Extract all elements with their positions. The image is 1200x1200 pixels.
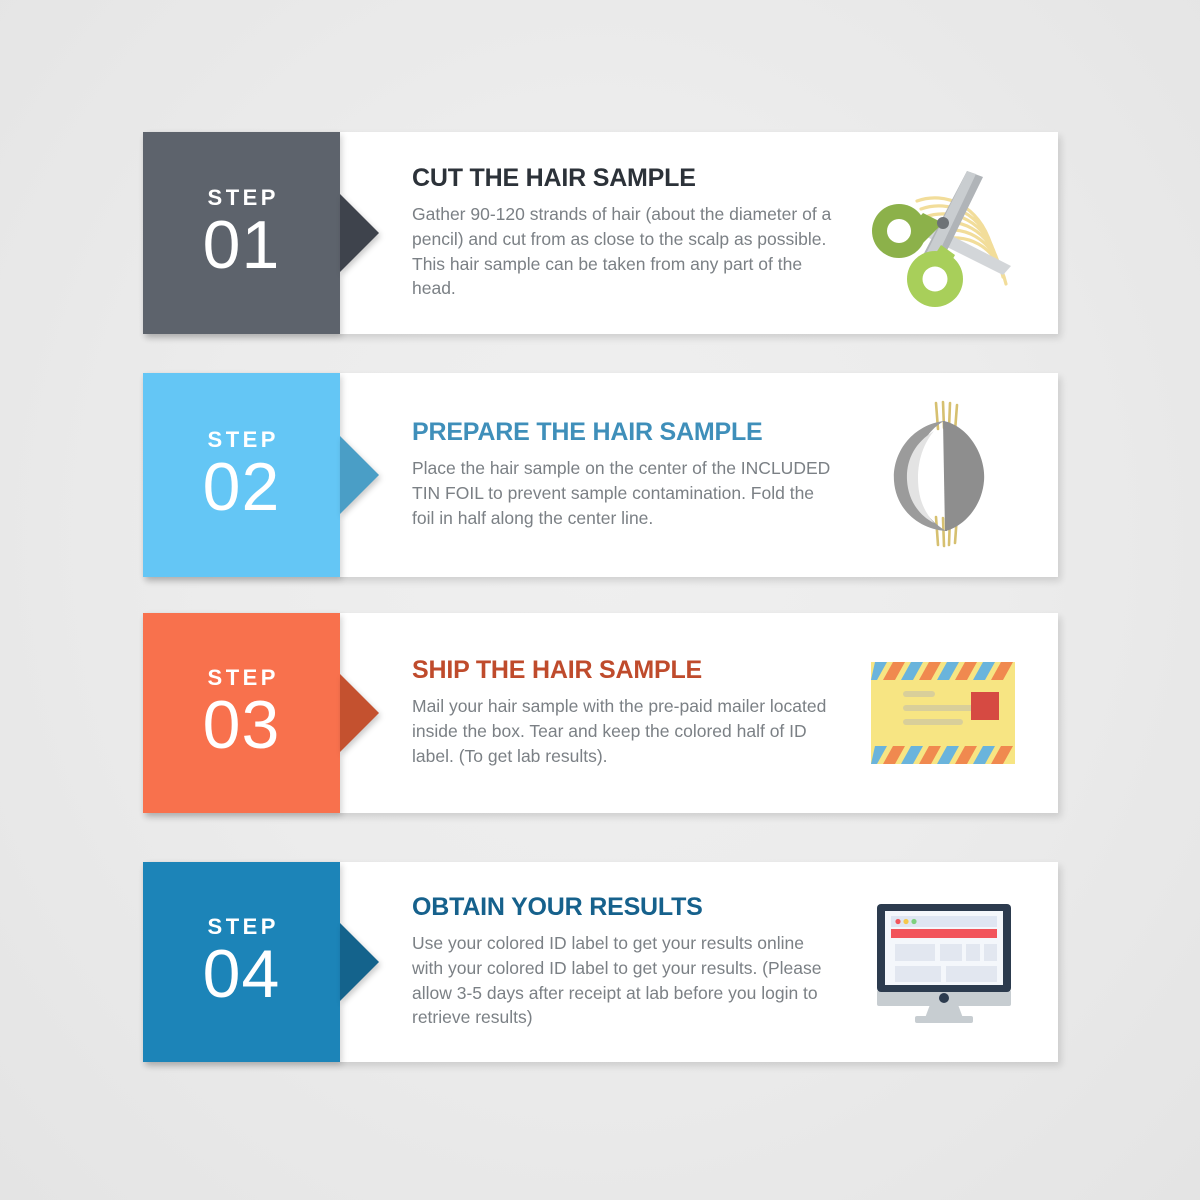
step-text-column-01: CUT THE HAIR SAMPLE Gather 90-120 strand…: [340, 132, 838, 334]
arrow-pointer-03: [340, 674, 379, 752]
step-card-04[interactable]: STEP 04 OBTAIN YOUR RESULTS Use your col…: [143, 862, 1058, 1062]
step-title-01: CUT THE HAIR SAMPLE: [412, 165, 838, 191]
arrow-pointer-01: [340, 194, 379, 272]
step-number-02: 02: [203, 453, 281, 521]
step-number-block-03: STEP 03: [143, 613, 340, 813]
step-word-label-02: STEP: [204, 429, 279, 451]
infographic-root: STEP 01 CUT THE HAIR SAMPLE Gather 90-12…: [0, 0, 1200, 1200]
arrow-pointer-02: [340, 436, 379, 514]
step-card-02[interactable]: STEP 02 PREPARE THE HAIR SAMPLE Place th…: [143, 373, 1058, 577]
step-word-label-01: STEP: [204, 187, 279, 209]
step-number-04: 04: [203, 940, 281, 1008]
step-number-block-04: STEP 04: [143, 862, 340, 1062]
step-title-04: OBTAIN YOUR RESULTS: [412, 894, 838, 920]
step-text-column-02: PREPARE THE HAIR SAMPLE Place the hair s…: [340, 373, 838, 577]
step-number-01: 01: [203, 211, 281, 279]
step-number-03: 03: [203, 691, 281, 759]
step-word-label-03: STEP: [204, 667, 279, 689]
scissors-hair-icon: [863, 153, 1023, 313]
step-icon-column-01: [838, 132, 1058, 334]
step-body-02: Place the hair sample on the center of t…: [412, 456, 838, 531]
step-card-01[interactable]: STEP 01 CUT THE HAIR SAMPLE Gather 90-12…: [143, 132, 1058, 334]
step-word-label-04: STEP: [204, 916, 279, 938]
desktop-monitor-icon: [861, 898, 1026, 1026]
arrow-pointer-04: [340, 923, 379, 1001]
step-card-03[interactable]: STEP 03 SHIP THE HAIR SAMPLE Mail your h…: [143, 613, 1058, 813]
step-body-04: Use your colored ID label to get your re…: [412, 931, 838, 1030]
step-title-03: SHIP THE HAIR SAMPLE: [412, 657, 838, 683]
folded-foil-icon: [868, 395, 1018, 555]
step-icon-column-02: [838, 373, 1058, 577]
step-number-block-02: STEP 02: [143, 373, 340, 577]
airmail-envelope-icon: [867, 658, 1019, 768]
step-body-01: Gather 90-120 strands of hair (about the…: [412, 202, 838, 301]
step-body-03: Mail your hair sample with the pre-paid …: [412, 694, 838, 769]
step-number-block-01: STEP 01: [143, 132, 340, 334]
step-icon-column-03: [838, 613, 1058, 813]
step-icon-column-04: [838, 862, 1058, 1062]
step-text-column-03: SHIP THE HAIR SAMPLE Mail your hair samp…: [340, 613, 838, 813]
step-title-02: PREPARE THE HAIR SAMPLE: [412, 419, 838, 445]
step-text-column-04: OBTAIN YOUR RESULTS Use your colored ID …: [340, 862, 838, 1062]
